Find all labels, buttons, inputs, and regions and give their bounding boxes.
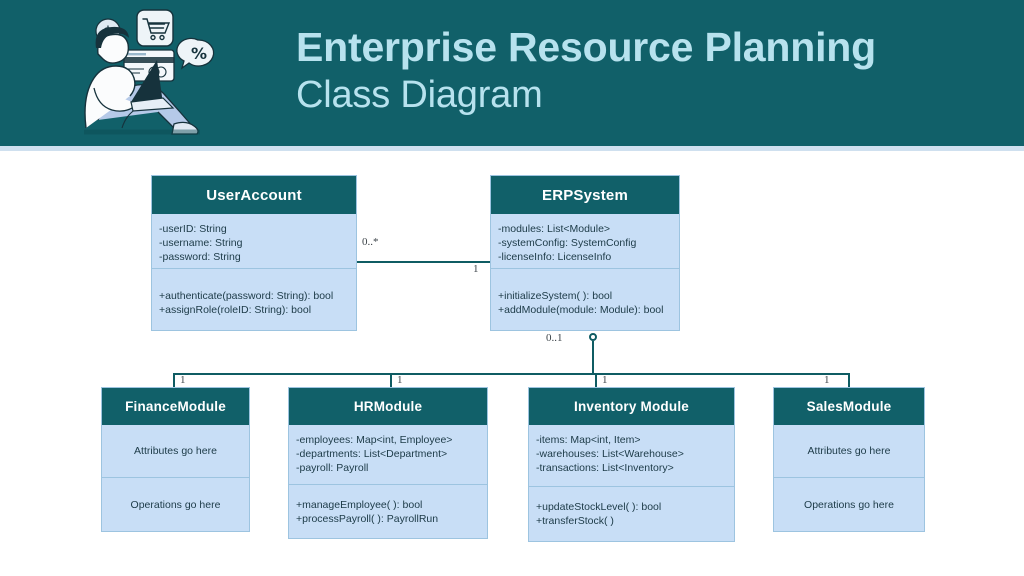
connector-erp-stem xyxy=(592,341,594,374)
attribute-row: -departments: List<Department> xyxy=(296,447,480,461)
class-name-hrmodule: HRModule xyxy=(289,388,487,425)
class-box-salesmodule[interactable]: SalesModule Attributes go here Operation… xyxy=(773,387,925,532)
connector-modules-bus xyxy=(173,373,849,375)
operation-row: +processPayroll( ): PayrollRun xyxy=(296,512,480,526)
class-name-useraccount: UserAccount xyxy=(152,176,356,214)
attribute-row: -modules: List<Module> xyxy=(498,222,672,236)
attributes-financemodule: Attributes go here xyxy=(102,425,249,478)
attribute-row: -licenseInfo: LicenseInfo xyxy=(498,250,672,264)
connector-drop-hr xyxy=(390,373,392,388)
class-name-financemodule: FinanceModule xyxy=(102,388,249,425)
class-box-useraccount[interactable]: UserAccount -userID: String -username: S… xyxy=(151,175,357,331)
operation-row: +addModule(module: Module): bool xyxy=(498,303,672,317)
multiplicity-module-sales: 1 xyxy=(824,374,830,386)
attributes-inventorymodule: -items: Map<int, Item> -warehouses: List… xyxy=(529,425,734,487)
operation-row: +updateStockLevel( ): bool xyxy=(536,500,727,514)
operations-financemodule: Operations go here xyxy=(102,478,249,531)
class-box-financemodule[interactable]: FinanceModule Attributes go here Operati… xyxy=(101,387,250,532)
title-line-secondary: Class Diagram xyxy=(296,71,976,119)
class-name-erpsystem: ERPSystem xyxy=(491,176,679,214)
attributes-hrmodule: -employees: Map<int, Employee> -departme… xyxy=(289,425,487,485)
class-box-hrmodule[interactable]: HRModule -employees: Map<int, Employee> … xyxy=(288,387,488,539)
banner-title: Enterprise Resource Planning Class Diagr… xyxy=(296,24,976,119)
class-box-erpsystem[interactable]: ERPSystem -modules: List<Module> -system… xyxy=(490,175,680,331)
operations-erpsystem: +initializeSystem( ): bool +addModule(mo… xyxy=(491,269,679,330)
attribute-row: -employees: Map<int, Employee> xyxy=(296,433,480,447)
operation-row: +initializeSystem( ): bool xyxy=(498,289,672,303)
attribute-row: -password: String xyxy=(159,250,349,264)
header-banner: $ % xyxy=(0,0,1024,146)
attributes-salesmodule: Attributes go here xyxy=(774,425,924,478)
operations-hrmodule: +manageEmployee( ): bool +processPayroll… xyxy=(289,485,487,538)
connector-drop-inventory xyxy=(595,373,597,388)
attributes-erpsystem: -modules: List<Module> -systemConfig: Sy… xyxy=(491,214,679,269)
attribute-row: -transactions: List<Inventory> xyxy=(536,461,727,475)
operation-row: +authenticate(password: String): bool xyxy=(159,289,349,303)
operation-row: +assignRole(roleID: String): bool xyxy=(159,303,349,317)
attribute-row: -payroll: Payroll xyxy=(296,461,480,475)
operations-salesmodule: Operations go here xyxy=(774,478,924,531)
attribute-row: -userID: String xyxy=(159,222,349,236)
class-name-inventorymodule: Inventory Module xyxy=(529,388,734,425)
operation-row: +manageEmployee( ): bool xyxy=(296,498,480,512)
title-line-primary: Enterprise Resource Planning xyxy=(296,24,976,71)
attribute-row: -systemConfig: SystemConfig xyxy=(498,236,672,250)
operations-inventorymodule: +updateStockLevel( ): bool +transferStoc… xyxy=(529,487,734,541)
person-with-laptop-ecommerce-illustration: $ % xyxy=(62,2,232,144)
multiplicity-module-hr: 1 xyxy=(397,374,403,386)
attributes-useraccount: -userID: String -username: String -passw… xyxy=(152,214,356,269)
attribute-row: -username: String xyxy=(159,236,349,250)
multiplicity-module-finance: 1 xyxy=(180,374,186,386)
multiplicity-module-inventory: 1 xyxy=(602,374,608,386)
multiplicity-erp-from-user: 1 xyxy=(473,263,479,275)
operation-row: +transferStock( ) xyxy=(536,514,727,528)
class-diagram-canvas: 0..* 1 0..1 1 1 1 1 UserAccount -userID:… xyxy=(0,151,1024,576)
class-box-inventorymodule[interactable]: Inventory Module -items: Map<int, Item> … xyxy=(528,387,735,542)
multiplicity-user-to-erp: 0..* xyxy=(362,236,379,248)
svg-text:%: % xyxy=(191,44,207,63)
class-name-salesmodule: SalesModule xyxy=(774,388,924,425)
connector-drop-sales xyxy=(848,373,850,388)
multiplicity-erp-to-modules: 0..1 xyxy=(546,332,563,344)
attribute-row: -items: Map<int, Item> xyxy=(536,433,727,447)
connector-useraccount-erpsystem xyxy=(357,261,490,263)
attribute-row: -warehouses: List<Warehouse> xyxy=(536,447,727,461)
operations-useraccount: +authenticate(password: String): bool +a… xyxy=(152,269,356,330)
connector-drop-finance xyxy=(173,373,175,388)
aggregation-circle-icon xyxy=(589,333,597,341)
